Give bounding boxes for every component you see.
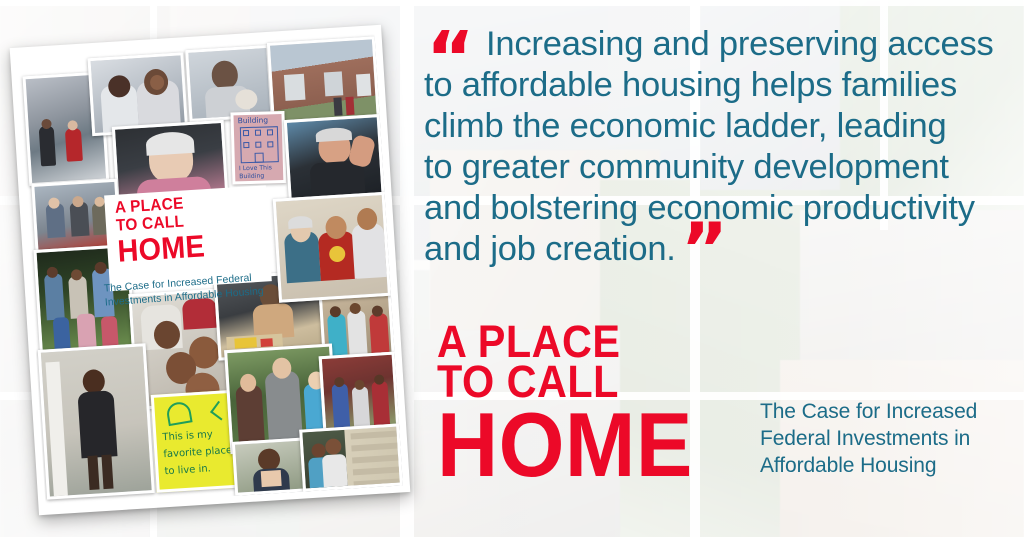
main-subtitle-line2: Federal Investments in — [760, 425, 1022, 452]
cover-title: A PLACE TO CALL HOME — [114, 193, 212, 267]
quote-line: to greater community development — [424, 147, 1014, 188]
pull-quote: “ Increasing and preserving access to af… — [424, 24, 1014, 270]
cover-photo — [273, 192, 391, 303]
quote-text: Increasing and preserving access to affo… — [424, 24, 1014, 270]
poster-canvas: Building I Love This Building — [0, 0, 1024, 537]
cover-photo — [232, 437, 311, 496]
quote-line: climb the economic ladder, leading — [424, 106, 1014, 147]
quote-line: Increasing and preserving access — [486, 24, 1014, 65]
main-subtitle-line3: Affordable Housing — [760, 452, 1022, 479]
quote-line: to affordable housing helps families — [424, 65, 1014, 106]
cover-photo — [38, 343, 155, 499]
building-drawing-heading: Building — [238, 115, 269, 125]
cover-building-drawing: Building I Love This Building — [230, 111, 286, 184]
main-subtitle-line1: The Case for Increased — [760, 398, 1022, 425]
quote-open-mark: “ — [426, 36, 473, 82]
cover-photo-collage: Building I Love This Building — [17, 32, 403, 508]
quote-line: and job creation. — [424, 230, 676, 268]
cover-photo — [284, 114, 385, 204]
report-cover: Building I Love This Building — [10, 25, 411, 515]
building-drawing-caption: I Love This Building — [239, 164, 272, 181]
sticky-note-text: This is my favorite place to live in. — [162, 425, 234, 480]
main-title-line3: HOME — [437, 404, 693, 488]
cover-title-line3: HOME — [117, 230, 206, 266]
cover-photo — [299, 423, 403, 491]
main-title: A PLACE TO CALL HOME — [437, 322, 712, 488]
cover-photo — [185, 45, 273, 122]
main-subtitle: The Case for Increased Federal Investmen… — [760, 398, 1022, 479]
cover-photo — [319, 352, 400, 435]
